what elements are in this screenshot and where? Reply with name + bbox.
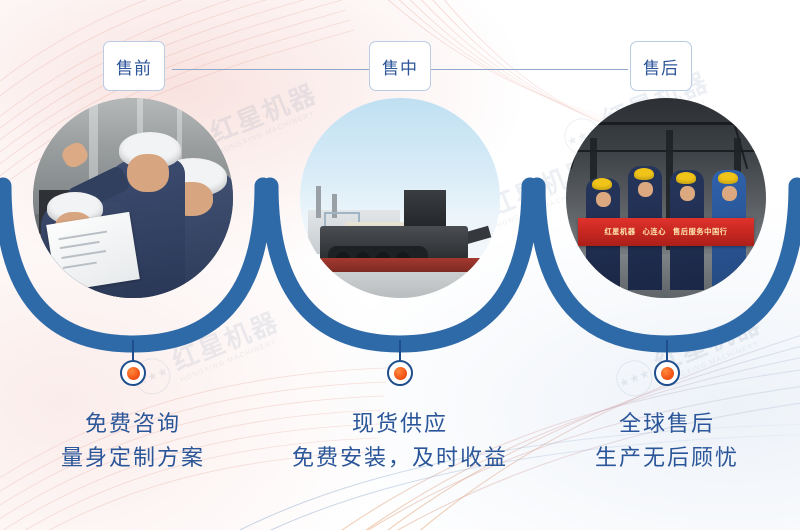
banner-text-2: 心连心 xyxy=(643,227,666,237)
step-label-row: 售前 售中 售后 xyxy=(0,0,800,100)
caption-pre-sale-line2: 量身定制方案 xyxy=(0,442,283,476)
banner-text-1: 红星机器 xyxy=(604,227,635,237)
caption-pre-sale-line1: 免费咨询 xyxy=(0,408,283,442)
marker-inner-dot xyxy=(661,367,674,380)
after-sale-photo: 红星机器 心连心 售后服务中国行 xyxy=(566,98,766,298)
caption-after-sale: 全球售后 生产无后顾忧 xyxy=(517,408,800,476)
step-connector-line-1 xyxy=(172,69,372,70)
after-sale-banner: 红星机器 心连心 售后服务中国行 xyxy=(578,218,754,246)
step-label-after-sale[interactable]: 售后 xyxy=(630,41,692,91)
marker-stem-2 xyxy=(399,340,401,362)
marker-stem-3 xyxy=(666,340,668,362)
marker-stem-1 xyxy=(132,340,134,362)
marker-dot-during-sale[interactable] xyxy=(387,360,413,386)
step-label-pre-sale[interactable]: 售前 xyxy=(103,41,165,91)
during-sale-photo xyxy=(300,98,500,298)
marker-dot-after-sale[interactable] xyxy=(654,360,680,386)
caption-after-sale-line1: 全球售后 xyxy=(517,408,800,442)
marker-inner-dot xyxy=(127,367,140,380)
caption-pre-sale: 免费咨询 量身定制方案 xyxy=(0,408,283,476)
promo-banner: ★★★ 红星机器 HONGXING MACHINERY ★★★ 红星机器 HON… xyxy=(0,0,800,530)
marker-dot-pre-sale[interactable] xyxy=(120,360,146,386)
banner-text-3: 售后服务中国行 xyxy=(673,227,728,237)
caption-during-sale-line1: 现货供应 xyxy=(250,408,550,442)
step-label-after-sale-text: 售后 xyxy=(643,54,679,79)
marker-inner-dot xyxy=(394,367,407,380)
caption-during-sale: 现货供应 免费安装，及时收益 xyxy=(250,408,550,476)
step-label-during-sale[interactable]: 售中 xyxy=(369,41,431,91)
pre-sale-photo xyxy=(33,98,233,298)
caption-after-sale-line2: 生产无后顾忧 xyxy=(517,442,800,476)
step-label-during-sale-text: 售中 xyxy=(382,54,418,79)
step-label-pre-sale-text: 售前 xyxy=(116,54,152,79)
caption-during-sale-line2: 免费安装，及时收益 xyxy=(250,442,550,476)
step-connector-line-2 xyxy=(428,69,628,70)
